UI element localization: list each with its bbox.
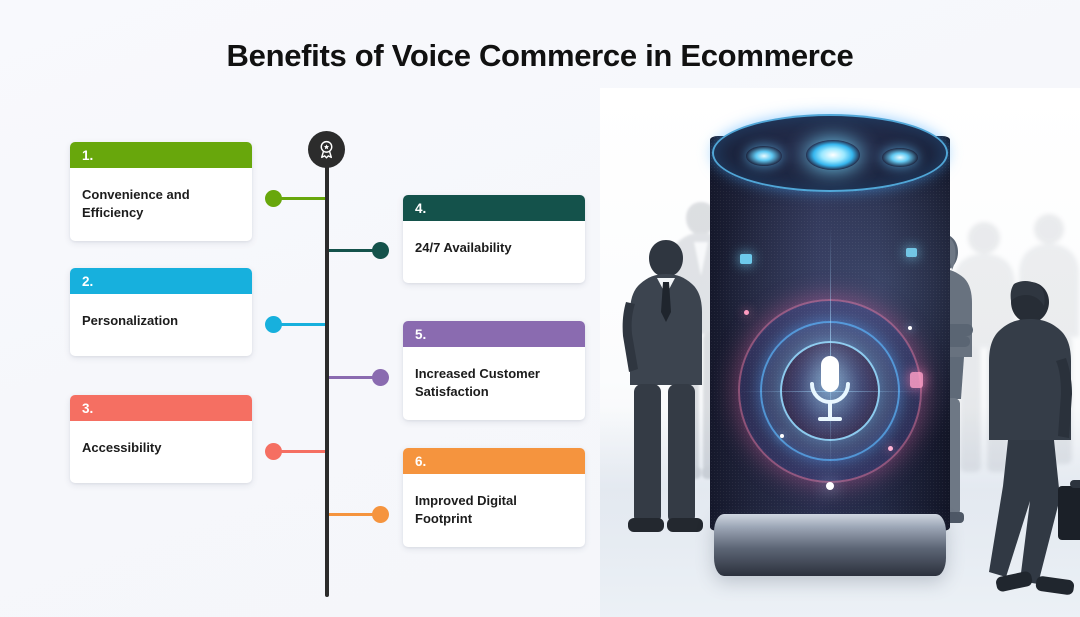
- hud-spark-bottom: [826, 482, 834, 490]
- speaker-light-pod-right: [882, 148, 918, 167]
- benefit-card-4-number: 4.: [415, 201, 426, 216]
- benefit-card-2-header: 2.: [70, 268, 252, 294]
- hud-chip-right: [906, 248, 917, 257]
- benefit-card-4-label: 24/7 Availability: [403, 221, 585, 283]
- speaker-light-pod-left: [746, 146, 782, 166]
- smart-speaker: [710, 106, 950, 576]
- speaker-light-pod-center: [806, 140, 860, 170]
- connector-dot-2: [265, 316, 282, 333]
- benefit-card-6-label: Improved Digital Footprint: [403, 474, 585, 547]
- benefit-card-4-header: 4.: [403, 195, 585, 221]
- benefit-card-2-label: Personalization: [70, 294, 252, 356]
- businessman-walking-briefcase-right: [970, 278, 1080, 608]
- page-title: Benefits of Voice Commerce in Ecommerce: [0, 38, 1080, 74]
- speaker-base: [714, 514, 946, 576]
- benefit-card-2-number: 2.: [82, 274, 93, 289]
- hud-rings-group: [738, 286, 922, 496]
- connector-dot-3: [265, 443, 282, 460]
- businessman-standing-left: [618, 236, 714, 546]
- benefit-card-1-number: 1.: [82, 148, 93, 163]
- benefit-card-6-header: 6.: [403, 448, 585, 474]
- hud-chip-left: [740, 254, 752, 264]
- connector-dot-1: [265, 190, 282, 207]
- benefit-card-3-number: 3.: [82, 401, 93, 416]
- hud-spark-b: [908, 326, 912, 330]
- hud-spark-a: [744, 310, 749, 315]
- microphone-icon: [803, 354, 857, 428]
- award-ribbon-icon: [308, 131, 345, 168]
- hud-vertical-line: [830, 226, 831, 476]
- benefit-card-5-number: 5.: [415, 327, 426, 342]
- hud-chip-person: [910, 372, 923, 388]
- benefit-card-2[interactable]: 2. Personalization: [70, 268, 252, 356]
- benefit-card-6[interactable]: 6. Improved Digital Footprint: [403, 448, 585, 547]
- connector-dot-6: [372, 506, 389, 523]
- connector-dot-5: [372, 369, 389, 386]
- infographic-canvas: Benefits of Voice Commerce in Ecommerce: [0, 0, 1080, 617]
- hud-spark-c: [780, 434, 784, 438]
- voice-assistant-illustration: [600, 88, 1080, 617]
- benefit-card-1-label: Convenience and Efficiency: [70, 168, 252, 241]
- benefit-card-5-header: 5.: [403, 321, 585, 347]
- benefit-card-3-label: Accessibility: [70, 421, 252, 483]
- connector-dot-4: [372, 242, 389, 259]
- timeline-spine: [325, 140, 329, 597]
- hud-spark-d: [888, 446, 893, 451]
- benefit-card-4[interactable]: 4. 24/7 Availability: [403, 195, 585, 283]
- benefit-card-5[interactable]: 5. Increased Customer Satisfaction: [403, 321, 585, 420]
- benefit-card-6-number: 6.: [415, 454, 426, 469]
- benefit-card-5-label: Increased Customer Satisfaction: [403, 347, 585, 420]
- speaker-body: [710, 136, 950, 531]
- benefit-card-3[interactable]: 3. Accessibility: [70, 395, 252, 483]
- benefit-card-3-header: 3.: [70, 395, 252, 421]
- benefit-card-1-header: 1.: [70, 142, 252, 168]
- benefit-card-1[interactable]: 1. Convenience and Efficiency: [70, 142, 252, 241]
- speaker-top-ring: [712, 114, 948, 192]
